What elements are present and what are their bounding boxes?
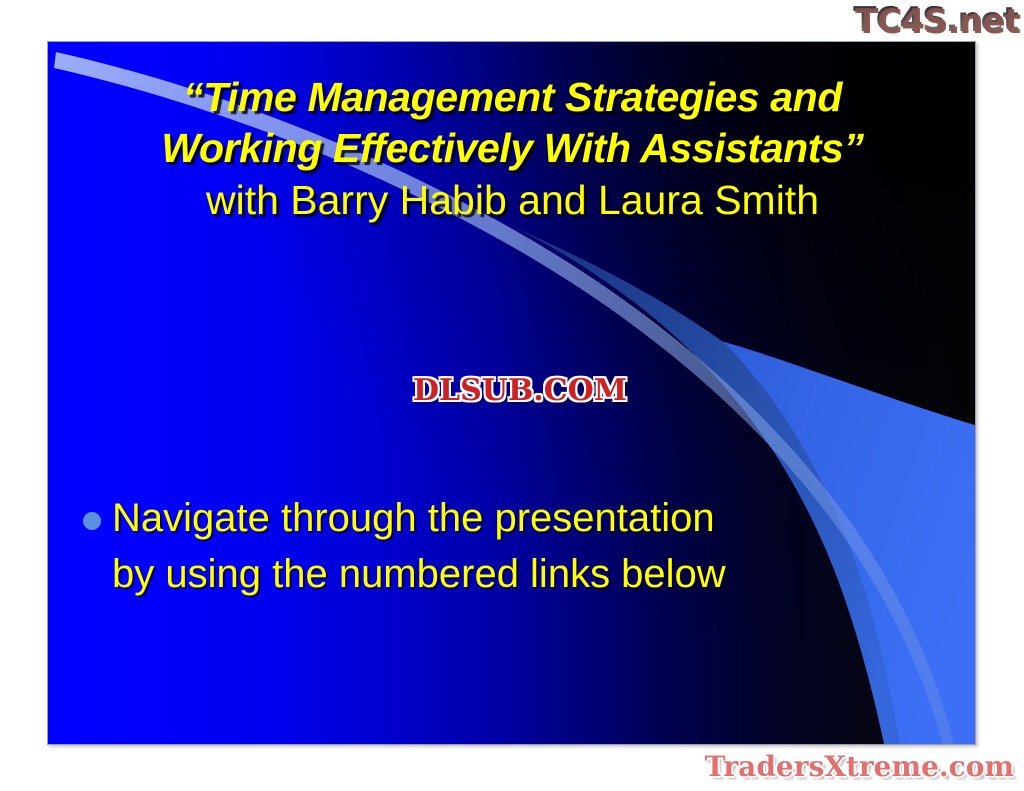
dlsub-logo: DLSUB.COM (370, 374, 670, 408)
top-watermark-tc4s: TC4S.net (853, 2, 1018, 38)
presentation-slide: “Time Management Strategies and Working … (47, 41, 976, 745)
slide-title: “Time Management Strategies and Working … (48, 72, 976, 227)
bullet-item-label: Navigate through the presentation by usi… (112, 490, 726, 602)
title-line-3-presenters: with Barry Habib and Laura Smith (48, 174, 976, 227)
bullet-list-item: Navigate through the presentation by usi… (83, 490, 943, 602)
slide-text-layer: “Time Management Strategies and Working … (48, 42, 975, 744)
slide-page: TC4S.net TC4S.net (0, 0, 1024, 791)
round-bullet-icon (83, 512, 101, 530)
title-line-1: “Time Management Strategies and (48, 72, 976, 123)
bottom-watermark-tradersxtreme: TradersXtreme.com (705, 751, 1014, 783)
title-line-2: Working Effectively With Assistants” (48, 123, 976, 174)
